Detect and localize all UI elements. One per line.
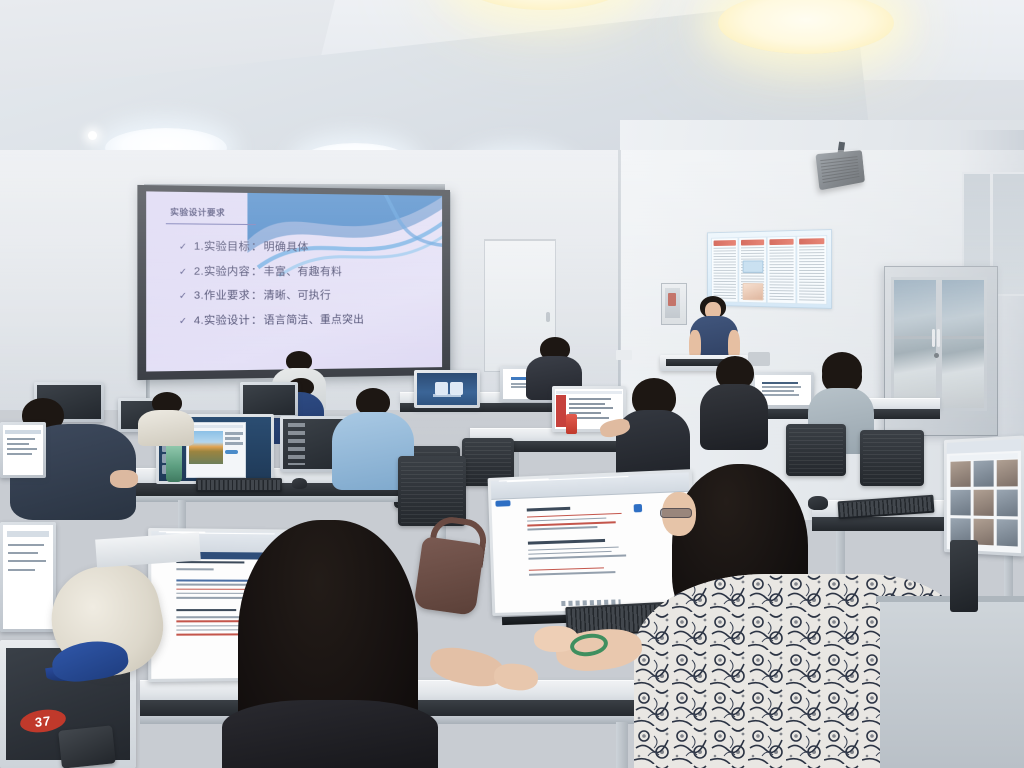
document-line [529,567,604,571]
monitor-row4-login[interactable] [414,370,480,408]
monitor-row4-back[interactable] [240,382,298,418]
video-thumbnail-grid[interactable] [951,460,1018,547]
monitor-screen-document [3,525,53,629]
classroom-scene: 实验设计要求 ✓ 1. 实验目标 ： 明确具体 ✓ 2. 实验内容 ： 丰富、有… [0,0,1024,768]
chair-mesh [401,459,463,523]
document-line [527,512,622,517]
mouse-row2[interactable] [292,478,307,489]
keyboard-keys [198,480,280,490]
attendee-shoulders [222,700,438,768]
doc-line [8,560,46,562]
window-text-line [225,442,242,445]
doc-line [8,569,35,571]
window-button[interactable] [225,450,238,454]
eyeglasses-icon [660,508,692,518]
window-text-line [225,437,240,440]
document-line [527,521,615,526]
attendee-hair [822,352,862,388]
doc-line [762,390,794,392]
monitor-right-video[interactable] [944,435,1024,556]
screen-icon-column [288,423,305,465]
attendee-hand [110,470,138,488]
document-line [529,571,615,575]
doc-heading [762,382,798,385]
document-line [527,526,598,530]
monitor-screen-off [243,385,295,415]
monitor-screen-document [3,425,43,475]
login-avatar-2 [450,382,463,395]
keyboard-row2[interactable] [196,478,282,492]
document-body [527,504,641,599]
browser-chrome[interactable] [491,472,690,500]
chair-right-2[interactable] [860,430,924,486]
video-thumbnail[interactable] [973,490,993,516]
monitor-foreground-left[interactable] [0,522,56,632]
desktop-window[interactable] [186,422,246,478]
black-phone[interactable] [58,725,116,768]
doc-line [7,448,37,450]
browser-toolbar [556,391,621,395]
document-line [176,569,213,571]
video-thumbnail[interactable] [951,461,970,487]
mouse-right[interactable] [808,496,828,510]
doc-line [7,443,29,445]
monitor-screen-video-grid [947,439,1021,553]
browser-toolbar [7,531,49,537]
document-subheading [176,609,236,612]
browser-toolbar [947,439,1021,454]
login-text [433,394,462,397]
video-thumbnail[interactable] [973,460,993,486]
red-paper-cup[interactable] [566,414,577,434]
attendee-torso [138,410,194,446]
computer-tower [950,540,978,612]
floor [880,600,1024,768]
video-thumbnail[interactable] [997,489,1018,516]
video-thumbnail[interactable] [997,519,1018,546]
login-avatar-1 [435,382,448,395]
podium-paper [616,350,632,360]
desk-leg [616,722,628,768]
doc-line [569,398,611,400]
chair-mesh [863,433,921,483]
doc-line [8,552,38,554]
app-sidebar [556,395,566,427]
doc-line [762,386,801,388]
doc-line [7,438,35,440]
attendee-torso [700,384,768,450]
document-line [528,554,625,559]
green-water-bottle[interactable] [166,440,182,482]
window-titlebar[interactable] [189,425,243,428]
monitor-far-left[interactable] [0,422,46,478]
doc-line [569,407,614,409]
browser-toolbar [5,430,40,434]
chair-right-1[interactable] [786,424,846,476]
doc-line [7,453,32,455]
doc-line [8,544,44,546]
document-heading [527,507,571,511]
monitor-front-center[interactable] [488,469,697,616]
video-thumbnail[interactable] [997,460,1018,487]
wallpaper-thumbnail [189,431,223,464]
brown-handbag [413,536,484,616]
monitor-screen-login [417,373,477,405]
downlight-1 [88,131,97,140]
chair-mesh [789,427,843,473]
window-text-line [225,432,242,435]
toolbar-button[interactable] [495,500,511,507]
document-subheading [528,539,605,544]
monitor-screen-browser [491,472,694,613]
doc-line [569,403,606,405]
doc-line [762,394,799,396]
video-thumbnail[interactable] [951,490,970,516]
chair-row2[interactable] [398,456,466,526]
